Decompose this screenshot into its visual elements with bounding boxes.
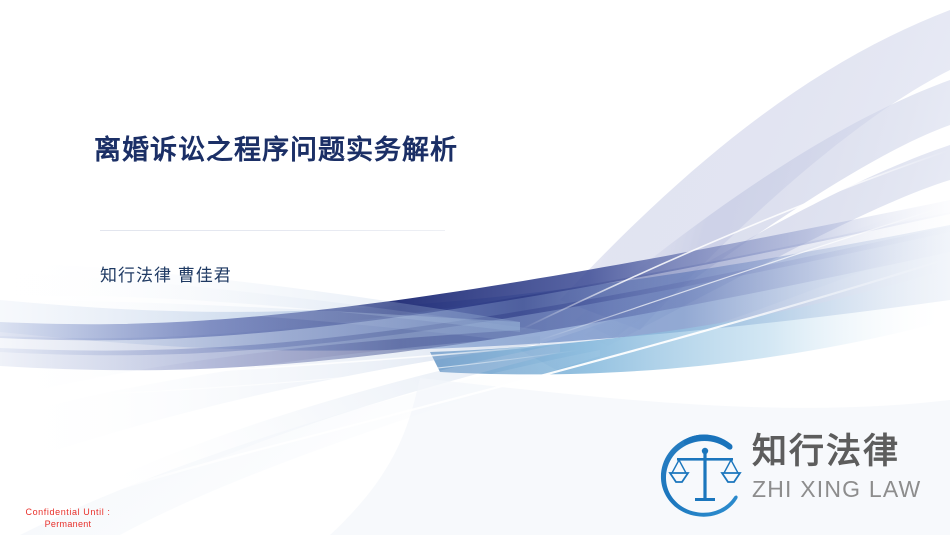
ribbon-lavender-upper-2 bbox=[575, 80, 950, 338]
ribbon-mid-blue bbox=[0, 225, 950, 351]
scale-in-brush-circle-icon bbox=[655, 426, 755, 524]
logo-chinese-name: 知行法律 bbox=[752, 432, 947, 472]
confidential-line-1: Confidential Until : bbox=[8, 506, 128, 518]
company-logo: 知行法律 ZHI XING LAW bbox=[655, 424, 945, 524]
scale-beam bbox=[677, 458, 733, 461]
ribbon-upper-left-wash-2 bbox=[0, 272, 540, 344]
ribbon-lavender-upper bbox=[560, 10, 950, 330]
ribbon-pale-left-1 bbox=[0, 300, 520, 400]
scale-strings-left bbox=[672, 460, 686, 473]
confidential-line-2: Permanent bbox=[8, 518, 128, 530]
ribbon-upper-left-wash bbox=[0, 262, 520, 332]
logo-english-name: ZHI XING LAW bbox=[752, 476, 947, 502]
ribbon-right-wash bbox=[520, 195, 950, 372]
ribbon-pale-left-2 bbox=[0, 336, 540, 470]
brush-accent-top bbox=[684, 435, 733, 450]
slide-subtitle: 知行法律 曹佳君 bbox=[100, 261, 232, 286]
slide-title: 离婚诉讼之程序问题实务解析 bbox=[94, 128, 458, 167]
highlight-curve-2 bbox=[520, 150, 950, 330]
ribbon-lavender-upper-3 bbox=[585, 145, 950, 346]
scale-strings-right bbox=[724, 460, 738, 473]
scale-pan-left bbox=[670, 473, 688, 482]
scale-pan-right bbox=[722, 473, 740, 482]
scale-base bbox=[695, 498, 715, 501]
scale-finial bbox=[702, 448, 708, 454]
highlight-curve-5 bbox=[0, 350, 580, 398]
presentation-slide: 离婚诉讼之程序问题实务解析 知行法律 曹佳君 Confidential Unti… bbox=[0, 0, 950, 535]
confidential-note: Confidential Until : Permanent bbox=[8, 506, 128, 530]
title-divider bbox=[100, 230, 445, 231]
ribbon-navy-core-3 bbox=[0, 226, 950, 370]
highlight-curve-3 bbox=[540, 205, 950, 340]
logo-wordmark: 知行法律 ZHI XING LAW bbox=[752, 432, 947, 502]
ribbon-cyan bbox=[430, 268, 950, 374]
highlight-curve-4 bbox=[0, 344, 560, 382]
